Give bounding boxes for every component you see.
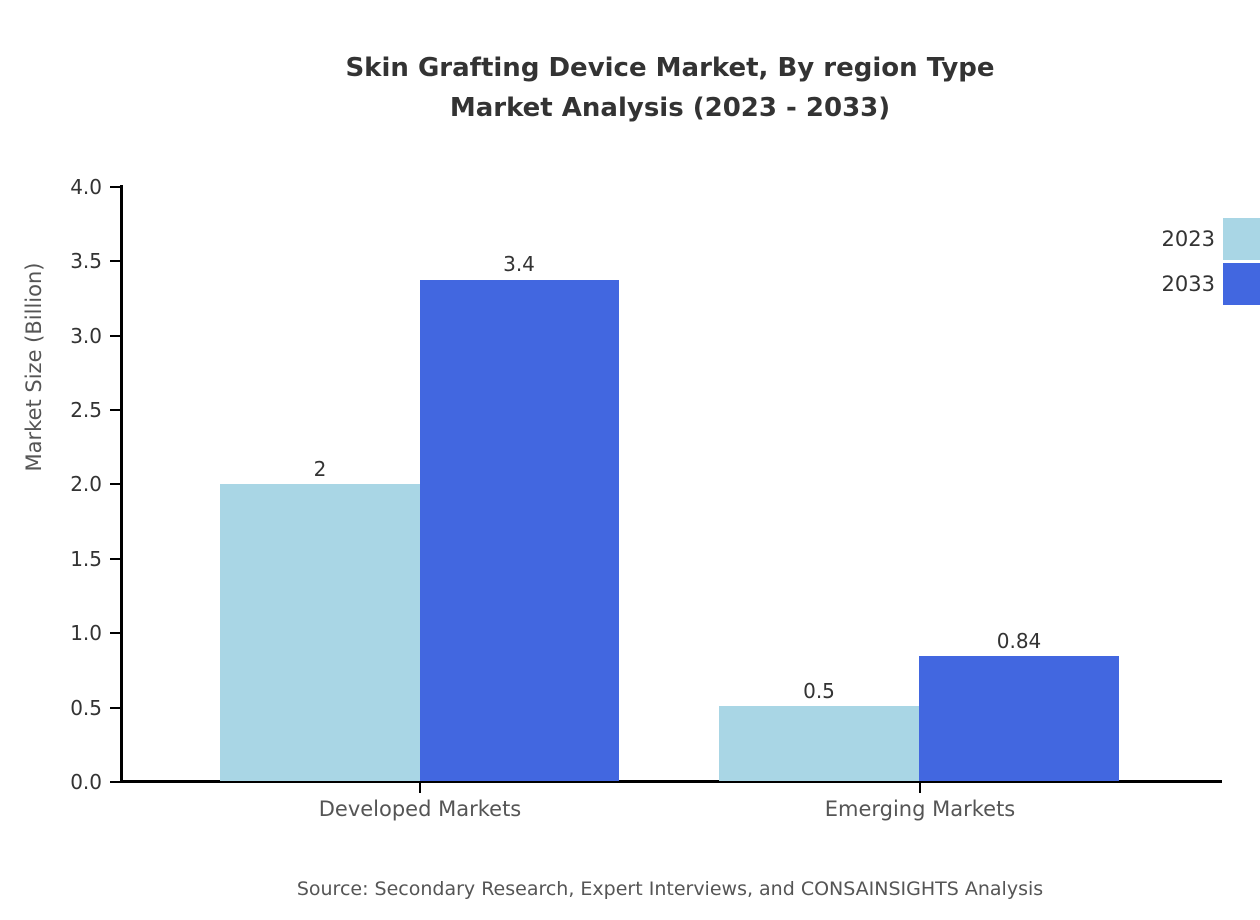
- legend-swatch-2023: [1223, 218, 1260, 260]
- chart-title-line2: Market Analysis (2023 - 2033): [0, 88, 1260, 128]
- x-tick-mark: [919, 782, 921, 793]
- y-tick-mark: [110, 707, 121, 709]
- legend-swatch-2033: [1223, 263, 1260, 305]
- y-tick-label: 3.5: [42, 251, 102, 271]
- y-tick-mark: [110, 186, 121, 188]
- y-tick-mark: [110, 409, 121, 411]
- bar-emerging-2033[interactable]: [919, 656, 1119, 781]
- y-tick-label: 3.0: [42, 326, 102, 346]
- bar-value-developed-2033: 3.4: [439, 252, 599, 276]
- chart-title-line1: Skin Grafting Device Market, By region T…: [345, 53, 994, 83]
- bar-developed-2033[interactable]: [420, 280, 619, 781]
- bar-value-emerging-2033: 0.84: [939, 629, 1099, 653]
- y-tick-label: 2.0: [42, 474, 102, 494]
- bar-value-emerging-2023: 0.5: [739, 679, 899, 703]
- x-tick-mark: [419, 782, 421, 793]
- bar-developed-2023[interactable]: [220, 484, 420, 781]
- y-tick-label: 4.0: [42, 177, 102, 197]
- legend-item-2023[interactable]: 2023: [1120, 218, 1260, 260]
- y-tick-label: 1.5: [42, 549, 102, 569]
- y-tick-mark: [110, 260, 121, 262]
- y-tick-label: 0.0: [42, 772, 102, 792]
- bar-value-developed-2023: 2: [240, 457, 400, 481]
- y-tick-label: 1.0: [42, 623, 102, 643]
- x-tick-label-emerging: Emerging Markets: [720, 795, 1120, 823]
- y-tick-mark: [110, 781, 121, 783]
- legend-label-2023: 2023: [1120, 226, 1215, 252]
- y-tick-mark: [110, 632, 121, 634]
- y-tick-mark: [110, 335, 121, 337]
- legend-label-2033: 2033: [1120, 271, 1215, 297]
- bar-emerging-2023[interactable]: [719, 706, 919, 781]
- y-tick-label: 0.5: [42, 698, 102, 718]
- y-tick-mark: [110, 483, 121, 485]
- source-note: Source: Secondary Research, Expert Inter…: [0, 878, 1260, 900]
- x-tick-label-developed: Developed Markets: [220, 795, 620, 823]
- chart-figure: Skin Grafting Device Market, By region T…: [0, 0, 1260, 920]
- chart-title: Skin Grafting Device Market, By region T…: [0, 48, 1260, 128]
- legend-item-2033[interactable]: 2033: [1120, 263, 1260, 305]
- chart-legend: 2023 2033: [1120, 218, 1260, 310]
- y-tick-mark: [110, 558, 121, 560]
- plot-area: 2 3.4 0.5 0.84: [122, 187, 1220, 781]
- y-tick-label: 2.5: [42, 400, 102, 420]
